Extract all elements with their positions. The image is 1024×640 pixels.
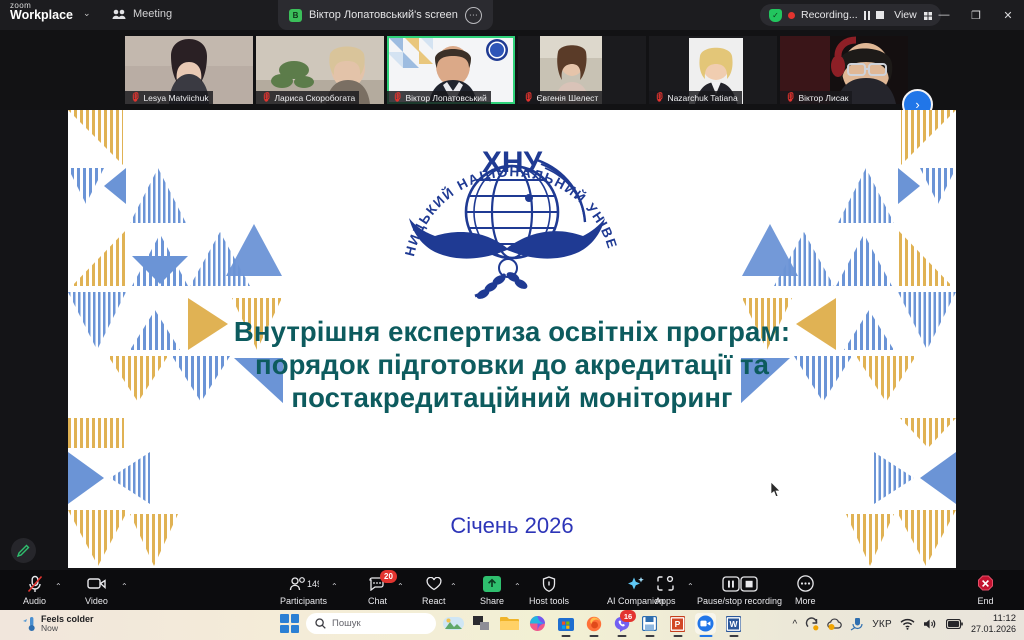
chat-button[interactable]: 20 Chat [368, 574, 387, 606]
floppy-icon [642, 616, 657, 631]
chat-label: Chat [368, 596, 387, 606]
microphone-muted-icon: 🎙 [522, 92, 533, 103]
more-label: More [795, 596, 816, 606]
pencil-icon [17, 544, 30, 557]
title-bar: zoom Workplace ⌄ Meeting B Віктор Лопато… [0, 0, 1024, 30]
sync-icon[interactable] [805, 617, 819, 631]
microphone-muted-icon: 🎙 [653, 92, 664, 103]
camera-icon [87, 574, 106, 593]
apps-button[interactable]: Apps [655, 574, 676, 606]
recording-label: Recording... [801, 9, 858, 21]
active-indicator [699, 635, 712, 637]
search-placeholder: Пошук [332, 618, 361, 629]
share-chevron-down-icon[interactable]: ⌃ [514, 582, 521, 591]
shield-icon [542, 574, 556, 593]
react-chevron-down-icon[interactable]: ⌃ [450, 582, 457, 591]
participant-tile[interactable]: 🎙 Nazarchuk Tatiana [649, 36, 777, 104]
chat-chevron-down-icon[interactable]: ⌃ [397, 582, 404, 591]
participant-nametag: 🎙 Лариса Скоробогата [256, 91, 359, 104]
battery-icon[interactable] [946, 619, 963, 629]
khnu-emblem-icon: ХМЕЛЬНИЦЬКИЙ НАЦІОНАЛЬНИЙ УНІВЕРСИТЕТ ХН… [387, 124, 637, 314]
participant-filmstrip: 🎙 Lesya Matviichuk 🎙 Лариса Скоробогата [0, 30, 1024, 110]
viber-icon[interactable]: 16 [611, 613, 632, 634]
react-label: React [422, 596, 446, 606]
windows-taskbar: Feels colder Now Пошук [0, 610, 1024, 640]
folder-icon [500, 616, 519, 631]
end-label: End [977, 596, 993, 606]
participant-name: Лариса Скоробогата [274, 93, 355, 103]
participant-tile[interactable]: 🎙 Віктор Лисак [780, 36, 908, 104]
more-button[interactable]: More [795, 574, 816, 606]
search-input[interactable]: Пошук [306, 613, 436, 634]
viber-unread-badge: 16 [620, 610, 636, 622]
copilot-icon[interactable] [527, 613, 548, 634]
audio-button[interactable]: Audio [23, 574, 46, 606]
audio-label: Audio [23, 596, 46, 606]
audio-chevron-down-icon[interactable]: ⌃ [55, 582, 62, 591]
participant-tile[interactable]: 🎙 Лариса Скоробогата [256, 36, 384, 104]
windows-start-icon[interactable] [280, 614, 299, 633]
clock-date: 27.01.2026 [971, 624, 1016, 635]
system-tray: ^ УКР [793, 613, 1017, 635]
open-indicator [729, 635, 738, 637]
logo-acronym: ХНУ [482, 146, 543, 179]
zoom-brand-main: Workplace [10, 9, 73, 22]
taskbar-center: Пошук [280, 613, 744, 634]
task-view-icon [473, 616, 490, 631]
participant-nametag: 🎙 Євгенія Шелест [518, 91, 602, 104]
search-icon [315, 618, 326, 629]
open-indicator [673, 635, 682, 637]
participant-name: Віктор Лисак [798, 93, 848, 103]
ellipsis-icon [797, 574, 814, 593]
view-label[interactable]: View [894, 9, 917, 21]
university-logo: ХМЕЛЬНИЦЬКИЙ НАЦІОНАЛЬНИЙ УНІВЕРСИТЕТ ХН… [387, 124, 637, 314]
pause-stop-icon [722, 574, 758, 593]
screen-share-tab[interactable]: B Віктор Лопатовський's screen ⋯ [278, 0, 493, 30]
open-indicator [589, 635, 598, 637]
presentation-slide: ХМЕЛЬНИЦЬКИЙ НАЦІОНАЛЬНИЙ УНІВЕРСИТЕТ ХН… [68, 110, 956, 568]
save-app-icon[interactable] [639, 613, 660, 634]
sparkle-icon [627, 574, 645, 593]
participants-count: 149 [307, 579, 319, 589]
participants-label: Participants [280, 596, 327, 606]
word-icon[interactable]: W [723, 613, 744, 634]
minimize-button[interactable]: — [928, 0, 960, 30]
end-button[interactable]: End [977, 574, 994, 606]
mouse-cursor [771, 482, 780, 496]
powerpoint-icon[interactable]: P [667, 613, 688, 634]
video-chevron-down-icon[interactable]: ⌃ [121, 582, 128, 591]
share-badge-icon: B [289, 9, 302, 22]
participant-name: Lesya Matviichuk [143, 93, 208, 103]
store-icon [558, 616, 574, 632]
zoom-taskbar-icon[interactable] [695, 613, 716, 634]
decorative-triangles-bottom-left [68, 418, 178, 568]
word-icon: W [726, 616, 741, 632]
screen-share-label: Віктор Лопатовський's screen [309, 9, 458, 21]
participant-nametag: 🎙 Lesya Matviichuk [125, 91, 213, 104]
workspace-chevron-down-icon[interactable]: ⌄ [83, 8, 91, 19]
participant-name: Євгенія Шелест [536, 93, 598, 103]
open-indicator [617, 635, 626, 637]
tray-overflow-button[interactable]: ^ [793, 619, 798, 630]
weather-subtitle: Now [41, 624, 94, 634]
copilot-icon [529, 615, 546, 632]
close-button[interactable]: ✕ [992, 0, 1024, 30]
file-explorer-icon[interactable] [499, 613, 520, 634]
participant-name: Nazarchuk Tatiana [667, 93, 737, 103]
open-indicator [645, 635, 654, 637]
pause-icon[interactable] [864, 11, 871, 20]
participant-name: Віктор Лопатовський [405, 93, 486, 103]
meeting-tab[interactable]: Meeting [112, 8, 172, 20]
participant-nametag: 🎙 Nazarchuk Tatiana [649, 91, 742, 104]
clock[interactable]: 11:12 27.01.2026 [971, 613, 1016, 635]
weather-widget[interactable]: Feels colder Now [22, 614, 94, 634]
recording-status: ✓ Recording... View [760, 4, 941, 26]
microphone-muted-icon: 🎙 [260, 92, 271, 103]
microphone-muted-icon: 🎙 [784, 92, 795, 103]
end-call-icon [977, 574, 994, 593]
stop-icon[interactable] [876, 11, 884, 19]
zoom-logo: zoom Workplace [10, 2, 73, 23]
apps-chevron-down-icon[interactable]: ⌃ [687, 582, 694, 591]
annotate-button[interactable] [11, 538, 36, 563]
firefox-icon [586, 616, 602, 632]
open-indicator [561, 635, 570, 637]
host-tools-label: Host tools [529, 596, 569, 606]
microphone-muted-icon: 🎙 [129, 92, 140, 103]
pause-stop-recording-button[interactable]: Pause/stop recording [697, 574, 782, 606]
participant-tile-active-speaker[interactable]: 🎙 Віктор Лопатовський [387, 36, 515, 104]
language-indicator[interactable]: УКР [872, 619, 892, 630]
recording-control-label: Pause/stop recording [697, 596, 782, 606]
participant-nametag: 🎙 Віктор Лопатовський [387, 91, 491, 104]
video-label: Video [85, 596, 108, 606]
microsoft-store-icon[interactable] [555, 613, 576, 634]
powerpoint-icon: P [670, 616, 685, 632]
firefox-icon[interactable] [583, 613, 604, 634]
video-button[interactable]: Video [85, 574, 108, 606]
apps-label: Apps [655, 596, 676, 606]
microphone-muted-icon: 🎙 [391, 92, 402, 103]
microphone-muted-icon [27, 574, 43, 593]
react-button[interactable]: React [422, 574, 446, 606]
share-screen-icon [483, 574, 501, 593]
host-tools-button[interactable]: Host tools [529, 574, 569, 606]
more-options-icon[interactable]: ⋯ [465, 7, 482, 24]
meeting-toolbar: Audio ⌃ Video ⌃ 149 Participa [0, 570, 1024, 610]
participants-button[interactable]: 149 Participants [280, 574, 327, 606]
participants-chevron-down-icon[interactable]: ⌃ [331, 582, 338, 591]
shared-screen-stage: ХМЕЛЬНИЦЬКИЙ НАЦІОНАЛЬНИЙ УНІВЕРСИТЕТ ХН… [0, 110, 1024, 570]
heart-icon [426, 574, 442, 593]
speaker-icon[interactable] [923, 618, 938, 630]
meeting-tab-label: Meeting [133, 8, 172, 20]
people-icon [112, 9, 126, 20]
svg-text:W: W [729, 619, 738, 629]
slide-title: Внутрішня експертиза освітніх програм: п… [192, 315, 832, 414]
decorative-triangles-bottom-right [846, 418, 956, 568]
chat-icon: 20 [369, 574, 386, 593]
recording-dot-icon [788, 12, 795, 19]
window-controls: — ❐ ✕ [928, 0, 1024, 30]
cloud-icon[interactable] [827, 618, 842, 630]
wifi-icon[interactable] [900, 618, 915, 630]
participant-tile[interactable]: 🎙 Lesya Matviichuk [125, 36, 253, 104]
keyboard-icon[interactable] [850, 618, 864, 631]
share-button[interactable]: Share [480, 574, 504, 606]
zoom-icon [697, 615, 714, 632]
maximize-button[interactable]: ❐ [960, 0, 992, 30]
widget-weather-icon[interactable] [443, 613, 464, 634]
slide-date: Січень 2026 [262, 513, 762, 539]
apps-icon [657, 574, 674, 593]
participant-tiles: 🎙 Lesya Matviichuk 🎙 Лариса Скоробогата [125, 36, 908, 104]
participant-tile[interactable]: 🎙 Євгенія Шелест [518, 36, 646, 104]
task-view-icon[interactable] [471, 613, 492, 634]
landscape-icon [443, 616, 464, 631]
thermometer-icon [22, 616, 36, 632]
participant-nametag: 🎙 Віктор Лисак [780, 91, 852, 104]
shield-check-icon: ✓ [769, 9, 782, 22]
chat-unread-badge: 20 [380, 570, 397, 583]
svg-text:P: P [675, 619, 681, 629]
participants-icon: 149 [289, 574, 319, 593]
share-label: Share [480, 596, 504, 606]
clock-time: 11:12 [971, 613, 1016, 624]
